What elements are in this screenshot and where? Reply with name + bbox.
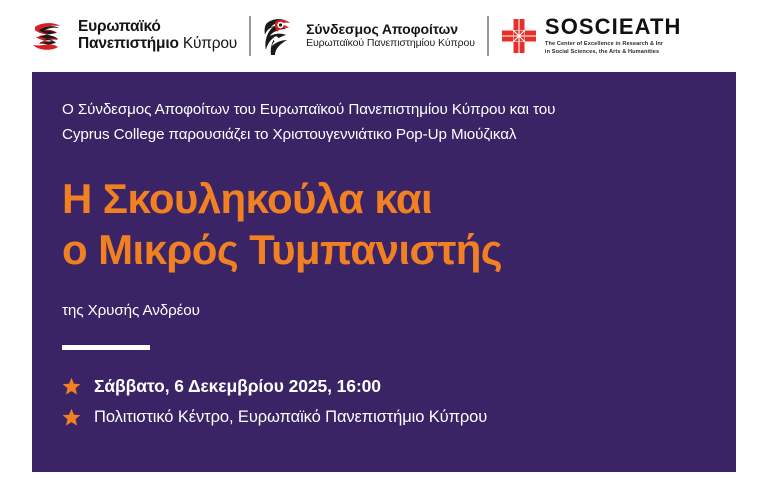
- detail-row-date: Σάββατο, 6 Δεκεμβρίου 2025, 16:00: [62, 376, 706, 397]
- soscieath-logo-text: SOSCIEATH The Center of Excellence in Re…: [545, 16, 682, 56]
- logo-soscieath: SOSCIEATH The Center of Excellence in Re…: [501, 10, 682, 62]
- logo-divider-1: [249, 16, 251, 56]
- poster-panel: Ο Σύνδεσμος Αποφοίτων του Ευρωπαϊκού Παν…: [32, 72, 736, 472]
- soscieath-tagline-line2: in Social Sciences, the Arts & Humanitie…: [545, 48, 663, 56]
- soscieath-tagline-line1: The Center of Excellence in Research & I…: [545, 40, 663, 48]
- poster-details: Σάββατο, 6 Δεκεμβρίου 2025, 16:00 Πολιτι…: [62, 376, 706, 427]
- poster-intro: Ο Σύνδεσμος Αποφοίτων του Ευρωπαϊκού Παν…: [62, 98, 706, 147]
- euc-logo-text: Ευρωπαϊκό Πανεπιστήμιο Κύπρου: [78, 19, 237, 52]
- euc-logo-line2-regular: Κύπρου: [183, 35, 237, 52]
- detail-venue-text: Πολιτιστικό Κέντρο, Ευρωπαϊκό Πανεπιστήμ…: [94, 408, 487, 427]
- star-icon: [62, 408, 81, 427]
- soscieath-cross-icon: [501, 18, 537, 54]
- euc-logo-line1: Ευρωπαϊκό: [78, 19, 237, 36]
- header-logo-strip: Ευρωπαϊκό Πανεπιστήμιο Κύπρου Σύνδεσμος …: [0, 0, 768, 72]
- logo-european-university-cyprus: Ευρωπαϊκό Πανεπιστήμιο Κύπρου: [28, 10, 237, 62]
- poster-intro-line1: Ο Σύνδεσμος Αποφοίτων του Ευρωπαϊκού Παν…: [62, 98, 706, 123]
- soscieath-title: SOSCIEATH: [545, 16, 682, 38]
- poster-divider-rule: [62, 345, 150, 350]
- soscieath-tagline: The Center of Excellence in Research & I…: [545, 40, 663, 56]
- poster-author: της Χρυσής Ανδρέου: [62, 302, 706, 319]
- alumni-logo-line1: Σύνδεσμος Αποφοίτων: [306, 22, 475, 38]
- star-icon: [62, 377, 81, 396]
- poster-title-line2: ο Μικρός Τυμπανιστής: [62, 224, 706, 275]
- logo-alumni-association: Σύνδεσμος Αποφοίτων Ευρωπαϊκού Πανεπιστη…: [263, 10, 475, 62]
- alumni-logo-line2: Ευρωπαϊκού Πανεπιστημίου Κύπρου: [306, 38, 475, 50]
- logo-divider-2: [487, 16, 489, 56]
- alumni-logo-text: Σύνδεσμος Αποφοίτων Ευρωπαϊκού Πανεπιστη…: [306, 22, 475, 49]
- euc-swoosh-icon: [28, 16, 68, 56]
- euc-logo-line2-bold: Πανεπιστήμιο: [78, 35, 179, 52]
- poster-title-line1: Η Σκουληκούλα και: [62, 173, 706, 224]
- poster-intro-line2: Cyprus College παρουσιάζει το Χριστουγεν…: [62, 123, 706, 148]
- poster-title: Η Σκουληκούλα και ο Μικρός Τυμπανιστής: [62, 173, 706, 275]
- detail-row-venue: Πολιτιστικό Κέντρο, Ευρωπαϊκό Πανεπιστήμ…: [62, 408, 706, 427]
- euc-logo-line2: Πανεπιστήμιο Κύπρου: [78, 36, 237, 53]
- alumni-figure-icon: [263, 15, 297, 57]
- detail-date-text: Σάββατο, 6 Δεκεμβρίου 2025, 16:00: [94, 376, 381, 397]
